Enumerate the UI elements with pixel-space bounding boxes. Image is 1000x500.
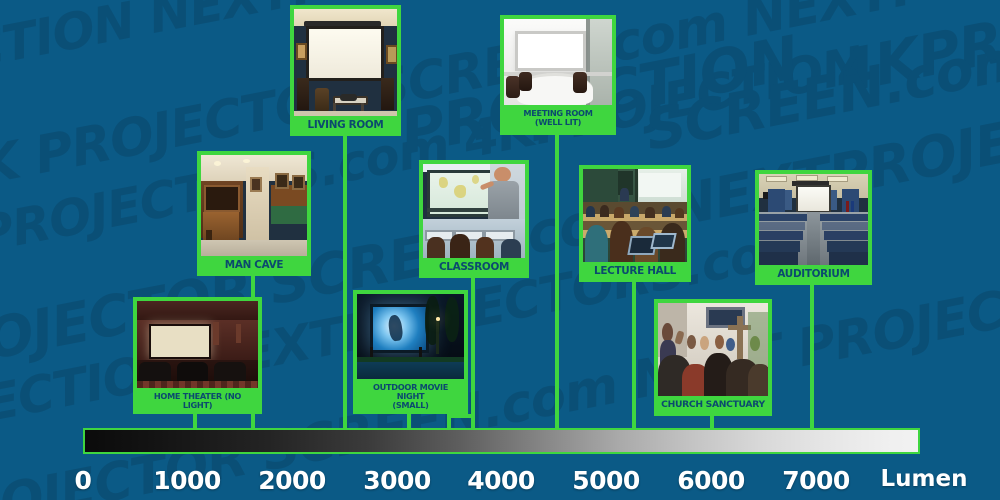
- venue-card-meeting-room[interactable]: MEETING ROOM(WELL LIT): [500, 15, 616, 135]
- photo-element: [827, 241, 868, 252]
- venue-card-man-cave[interactable]: MAN CAVE: [197, 151, 311, 276]
- photo-element: [137, 381, 258, 388]
- photo-element: [573, 72, 587, 93]
- venue-caption-line: CHURCH SANCTUARY: [660, 400, 766, 410]
- venue-caption-line: LECTURE HALL: [585, 266, 685, 277]
- photo-element: [450, 234, 470, 258]
- photo-element: [204, 185, 240, 211]
- venue-caption-line: HOME THEATER (NO LIGHT): [139, 392, 256, 410]
- photo-element: [294, 111, 397, 116]
- photo-element: [250, 177, 262, 192]
- venue-photo-auditorium: [759, 174, 868, 265]
- photo-element: [454, 185, 466, 198]
- photo-element: [236, 324, 241, 343]
- photo-element: [586, 206, 595, 217]
- photo-element: [822, 222, 868, 230]
- photo-element: [600, 205, 609, 217]
- photo-element: [785, 190, 792, 210]
- photo-element: [759, 252, 798, 265]
- photo-element: [488, 181, 519, 220]
- photo-element: [820, 214, 868, 221]
- photo-element: [427, 237, 445, 258]
- venue-caption-line: AUDITORIUM: [761, 269, 866, 280]
- photo-element: [766, 176, 788, 183]
- photo-element: [614, 207, 623, 218]
- photo-element: [748, 364, 768, 396]
- venue-caption-line: OUTDOOR MOVIE NIGHT: [359, 383, 462, 401]
- venue-caption-classroom: CLASSROOM: [423, 258, 525, 277]
- venue-photo-lecture-hall: [583, 169, 687, 262]
- photo-element: [201, 240, 307, 256]
- tick-label-lumen: Lumen: [881, 466, 968, 492]
- venue-caption-man-cave: MAN CAVE: [201, 256, 307, 275]
- venue-photo-outdoor-movie-night: [357, 294, 464, 379]
- photo-element: [675, 208, 684, 218]
- photo-element: [759, 214, 807, 221]
- photo-element: [700, 336, 709, 350]
- photo-element: [583, 169, 618, 206]
- photo-element: [357, 362, 464, 379]
- photo-element: [506, 76, 520, 98]
- venue-caption-auditorium: AUDITORIUM: [759, 265, 868, 284]
- venue-card-lecture-hall[interactable]: LECTURE HALL: [579, 165, 691, 282]
- photo-element: [796, 185, 831, 213]
- photo-element: [315, 88, 329, 112]
- venue-caption-church-sanctuary: CHURCH SANCTUARY: [658, 396, 768, 414]
- venue-caption-line: (SMALL): [359, 401, 462, 410]
- photo-element: [831, 190, 838, 210]
- photo-element: [737, 316, 743, 359]
- venue-photo-home-theater: [137, 301, 258, 388]
- photo-element: [243, 159, 249, 163]
- photo-element: [501, 239, 521, 258]
- venue-caption-lecture-hall: LECTURE HALL: [583, 262, 687, 281]
- photo-element: [149, 324, 211, 359]
- photo-element: [759, 241, 800, 252]
- photo-element: [763, 192, 767, 199]
- venue-card-classroom[interactable]: CLASSROOM: [419, 160, 529, 278]
- venue-card-auditorium[interactable]: AUDITORIUM: [755, 170, 872, 285]
- photo-element: [137, 301, 258, 320]
- photo-element: [639, 173, 681, 197]
- photo-element: [824, 231, 868, 240]
- photo-element: [620, 188, 628, 201]
- venue-card-home-theater[interactable]: HOME THEATER (NO LIGHT): [133, 297, 262, 414]
- photo-element: [296, 43, 307, 60]
- venue-caption-outdoor-movie-night: OUTDOOR MOVIE NIGHT(SMALL): [357, 379, 464, 414]
- photo-element: [297, 78, 309, 110]
- venue-card-living-room[interactable]: LIVING ROOM: [290, 5, 401, 136]
- tick-label-0: 0: [75, 466, 92, 495]
- tick-label-5000: 5000: [572, 466, 640, 495]
- photo-element: [585, 225, 608, 262]
- tick-label-4000: 4000: [467, 466, 535, 495]
- photo-element: [494, 167, 510, 182]
- venue-photo-classroom: [423, 164, 525, 258]
- tick-label-6000: 6000: [677, 466, 745, 495]
- photo-element: [807, 212, 820, 265]
- photo-element: [768, 189, 785, 213]
- photo-element: [427, 208, 490, 212]
- venue-photo-church-sanctuary: [658, 303, 768, 396]
- photo-element: [271, 206, 307, 224]
- venue-card-outdoor-movie-night[interactable]: OUTDOOR MOVIE NIGHT(SMALL): [353, 290, 468, 414]
- venue-caption-meeting-room: MEETING ROOM(WELL LIT): [504, 105, 612, 131]
- venue-caption-line: MAN CAVE: [203, 260, 305, 271]
- photo-element: [386, 45, 397, 64]
- photo-element: [650, 233, 676, 249]
- tick-label-2000: 2000: [258, 466, 326, 495]
- photo-element: [759, 231, 803, 240]
- venue-caption-home-theater: HOME THEATER (NO LIGHT): [137, 388, 258, 414]
- venue-photo-meeting-room: [504, 19, 612, 105]
- photo-element: [213, 322, 219, 345]
- photo-element: [292, 175, 304, 190]
- venue-caption-line: CLASSROOM: [425, 262, 523, 273]
- venue-caption-living-room: LIVING ROOM: [294, 116, 397, 135]
- tick-label-1000: 1000: [153, 466, 221, 495]
- photo-element: [630, 206, 639, 217]
- venue-caption-line: (WELL LIT): [506, 118, 610, 127]
- venue-photo-man-cave: [201, 155, 307, 256]
- photo-element: [472, 175, 479, 183]
- tick-label-7000: 7000: [782, 466, 850, 495]
- photo-element: [436, 320, 439, 354]
- photo-element: [275, 173, 289, 189]
- photo-element: [476, 237, 494, 258]
- photo-element: [829, 252, 868, 265]
- tick-label-3000: 3000: [363, 466, 431, 495]
- photo-element: [340, 94, 356, 101]
- photo-element: [590, 19, 612, 105]
- photo-element: [662, 206, 671, 217]
- photo-element: [645, 207, 654, 218]
- photo-element: [519, 72, 532, 91]
- venue-photo-living-room: [294, 9, 397, 116]
- photo-element: [759, 222, 805, 230]
- photo-element: [827, 176, 849, 183]
- venue-caption-line: LIVING ROOM: [296, 120, 395, 131]
- lumen-gradient-bar: [83, 428, 920, 454]
- photo-element: [357, 357, 464, 362]
- photo-element: [445, 297, 459, 341]
- venue-card-church-sanctuary[interactable]: CHURCH SANCTUARY: [654, 299, 772, 416]
- photo-element: [715, 335, 724, 349]
- photo-element: [381, 78, 394, 110]
- photo-element: [515, 31, 586, 71]
- photo-element: [306, 26, 384, 81]
